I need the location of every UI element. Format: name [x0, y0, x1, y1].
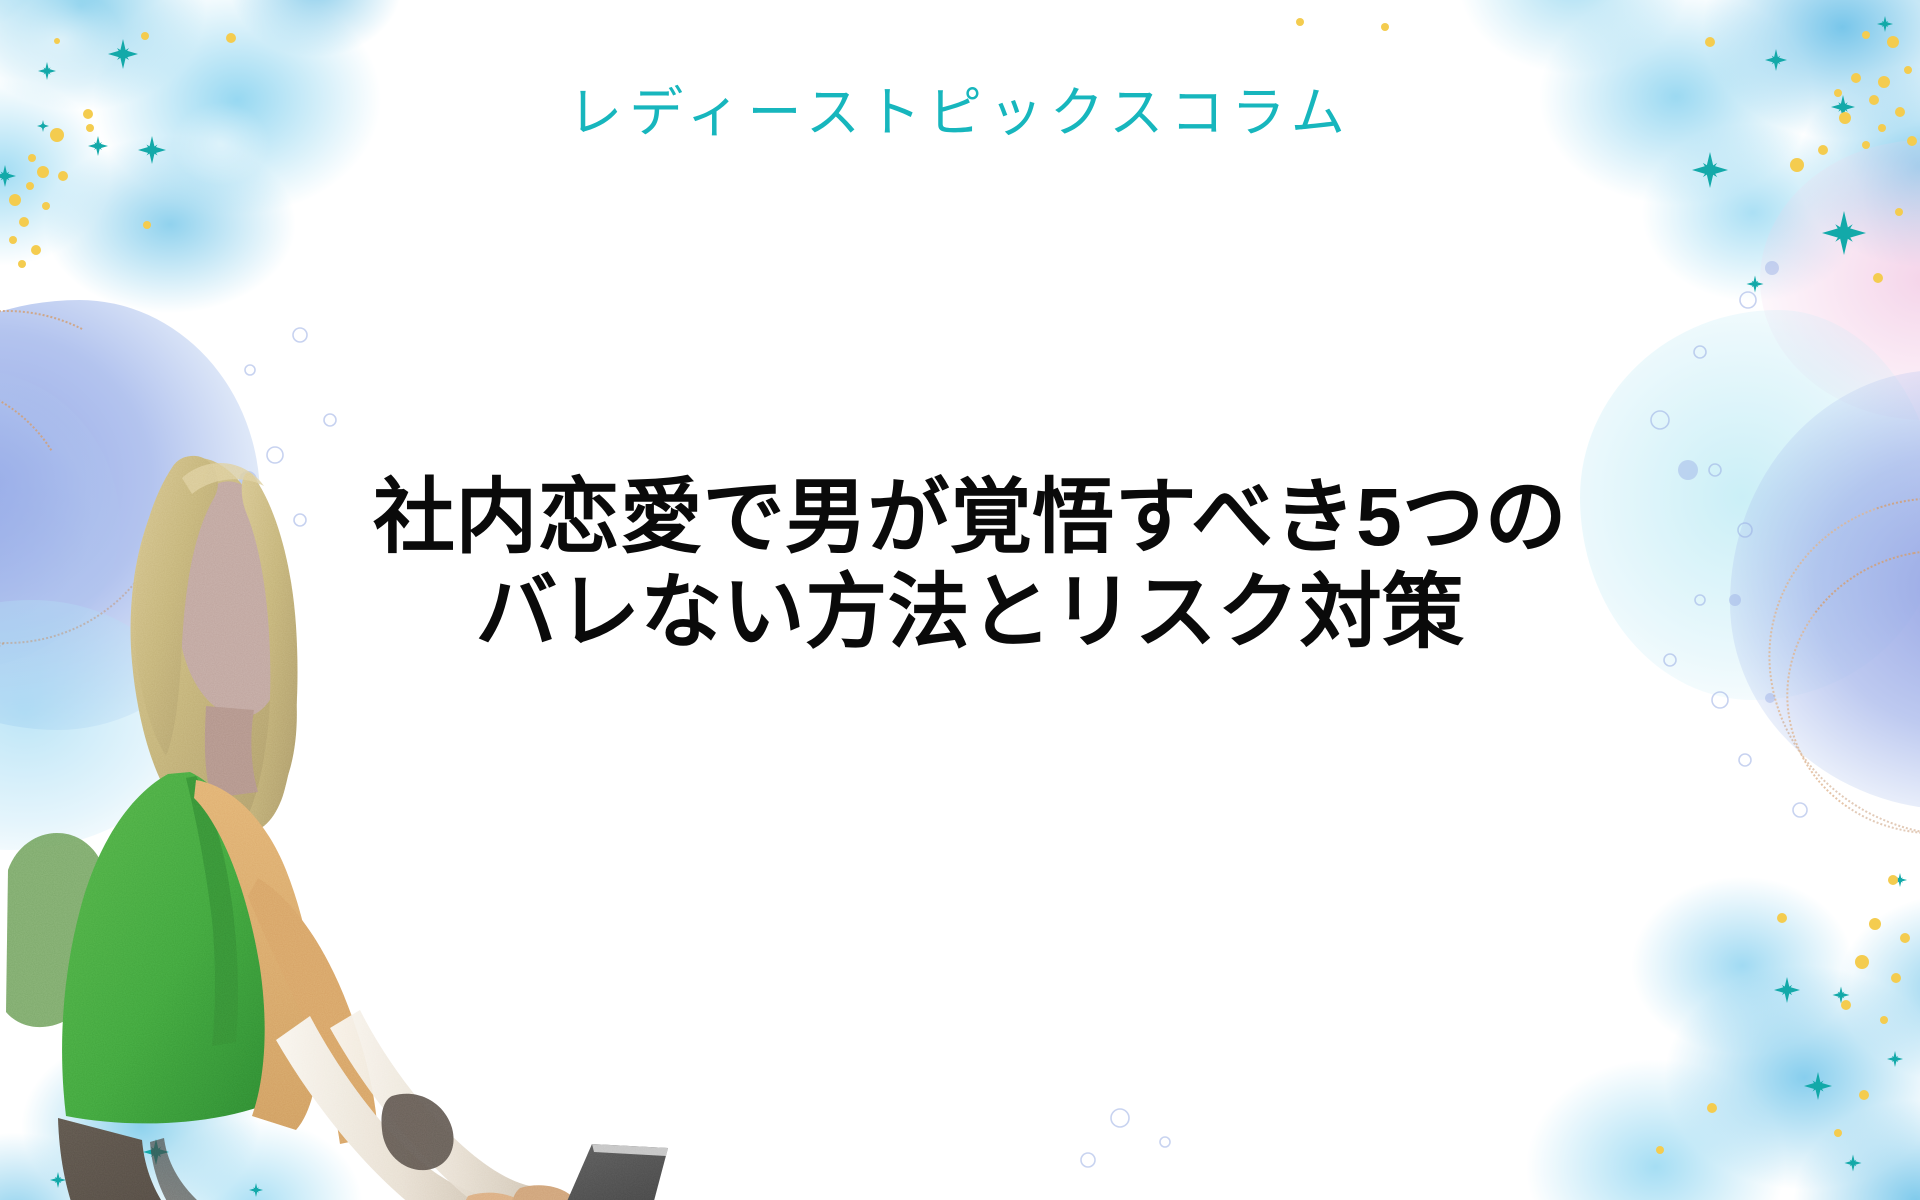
page-title: 社内恋愛で男が覚悟すべき5つの バレない方法とリスク対策 — [330, 470, 1610, 660]
watercolor-corner-top-right — [1420, 0, 1920, 410]
header-label: レディーストピックスコラム — [0, 68, 1920, 147]
neck — [205, 706, 258, 798]
page-title-line-2: バレない方法とリスク対策 — [330, 565, 1610, 660]
page-title-line-1: 社内恋愛で男が覚悟すべき5つの — [330, 470, 1610, 565]
alcohol-ink-right — [1560, 250, 1920, 890]
glitter-arc-right-1 — [1714, 440, 1920, 893]
watercolor-corner-bottom-right — [1420, 820, 1920, 1200]
watercolor-corner-top-left — [0, 0, 450, 370]
pants-shadow — [150, 1138, 358, 1200]
eyecatch-canvas: レディーストピックスコラム 社内恋愛で男が覚悟すべき5つの バレない方法とリスク… — [0, 0, 1920, 1200]
glitter-arc-right-2 — [1764, 526, 1920, 858]
